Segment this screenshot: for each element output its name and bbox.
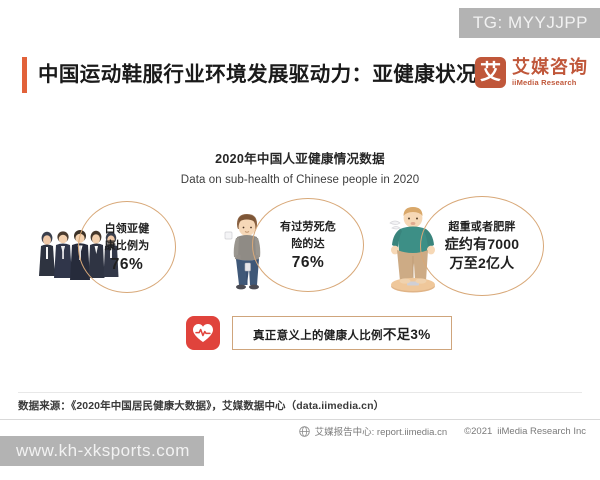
telegram-watermark: TG: MYYJJPP — [459, 8, 600, 38]
brand-logo: 艾 艾媒咨询 iiMedia Research — [475, 57, 588, 88]
callout: 真正意义上的健康人比例不足3% — [186, 316, 452, 350]
stat-bubble: 白领亚健 康比例为 76% — [78, 201, 176, 293]
brand-name-cn: 艾媒咨询 — [512, 58, 588, 76]
footer-divider — [0, 419, 600, 420]
title-accent-bar — [22, 57, 27, 93]
stat-group: 白领亚健 康比例为 76% — [0, 196, 600, 300]
heart-pulse-icon — [186, 316, 220, 350]
stat-value: 76% — [280, 254, 336, 271]
source-note: 数据来源：《2020年中国居民健康大数据》，艾媒数据中心（data.iimedi… — [18, 398, 384, 413]
stat-label-line: 万至2亿人 — [450, 255, 515, 271]
stat-bubble: 有过劳死危 险的达 76% — [252, 198, 364, 292]
site-watermark: www.kh-xksports.com — [0, 436, 204, 466]
stat-label-line: 险的达 — [291, 238, 325, 250]
page-title: 中国运动鞋服行业环境发展驱动力：亚健康状况 — [38, 56, 477, 94]
chart-subtitle: Data on sub-health of Chinese people in … — [0, 174, 600, 186]
chart-title: 2020年中国人亚健康情况数据 — [0, 148, 600, 167]
callout-text-emphasis: 不足3% — [383, 327, 431, 342]
header-divider — [18, 101, 588, 102]
brand-mark-icon: 艾 — [475, 57, 506, 88]
slide-canvas: TG: MYYJJPP 中国运动鞋服行业环境发展驱动力：亚健康状况 艾 艾媒咨询… — [0, 0, 600, 480]
stat-bubble: 超重或者肥胖 症约有7000 万至2亿人 — [420, 196, 544, 296]
stat-item: 有过劳死危 险的达 76% — [222, 196, 382, 300]
chart-heading: 2020年中国人亚健康情况数据 Data on sub-health of Ch… — [0, 148, 600, 186]
footer-company: iiMedia Research Inc — [497, 426, 586, 437]
slide-footer: 艾媒报告中心: report.iimedia.cn ©2021 iiMedia … — [299, 424, 586, 438]
brand-text: 艾媒咨询 iiMedia Research — [512, 58, 588, 87]
stat-label-line: 白领亚健 — [105, 223, 150, 235]
stat-item: 白领亚健 康比例为 76% — [36, 196, 212, 300]
source-divider — [18, 392, 582, 393]
stat-bubble-text: 超重或者肥胖 症约有7000 万至2亿人 — [439, 219, 526, 274]
stat-label-line: 康比例为 — [105, 240, 150, 252]
stat-bubble-text: 有过劳死危 险的达 76% — [274, 219, 342, 271]
stat-label-line: 症约有7000 — [445, 236, 520, 252]
brand-name-en: iiMedia Research — [512, 79, 588, 87]
slide-header: 中国运动鞋服行业环境发展驱动力：亚健康状况 艾 艾媒咨询 iiMedia Res… — [0, 48, 600, 102]
stat-item: 超重或者肥胖 症约有7000 万至2亿人 — [382, 196, 564, 300]
stat-label-line: 有过劳死危 — [280, 221, 336, 233]
footer-copyright: ©2021 — [464, 426, 492, 437]
footer-report-center: 艾媒报告中心: report.iimedia.cn — [315, 424, 448, 438]
globe-icon — [299, 426, 310, 437]
callout-box: 真正意义上的健康人比例不足3% — [232, 316, 452, 350]
stat-label-line: 超重或者肥胖 — [448, 221, 515, 233]
stat-value: 76% — [105, 256, 150, 273]
stat-bubble-text: 白领亚健 康比例为 76% — [99, 221, 156, 273]
callout-text: 真正意义上的健康人比例不足3% — [253, 323, 431, 343]
callout-text-prefix: 真正意义上的健康人比例 — [253, 330, 383, 342]
